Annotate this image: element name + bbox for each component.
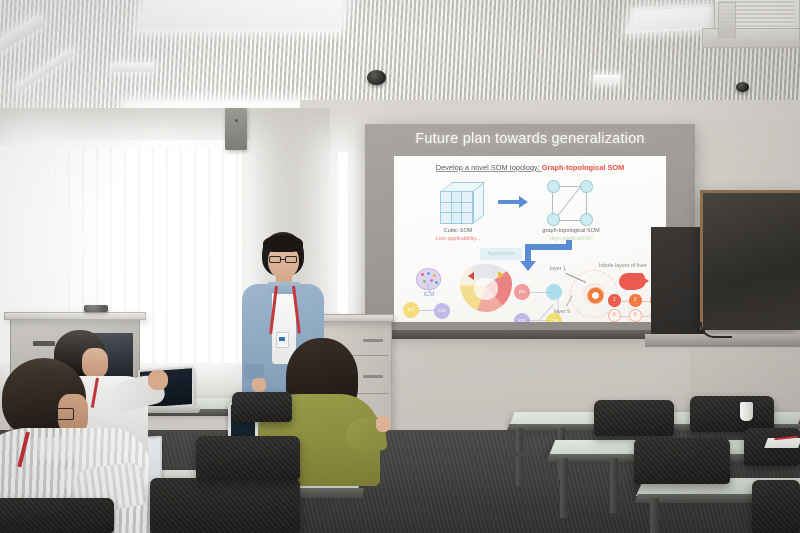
table-front-right-leg-1 [650,498,659,533]
ac-unit-duct [718,2,736,38]
transition-arrow-shaft [498,200,520,204]
slide-node-cyan [546,284,562,300]
wall-display-secondary [651,227,705,334]
ceiling-strip-light-4 [594,75,620,83]
layer-top-label: layer 1 [544,266,572,272]
table-mid-right-leg-1 [560,458,568,518]
av-rack-device-icon [84,305,108,312]
chair-foreground-left [0,498,114,533]
presenter-glasses-icon [269,256,281,263]
transition-arrow-head-icon [519,196,528,208]
chair-right-mid [634,438,730,484]
dome-sensor-secondary-icon [736,82,749,92]
grid-edge-r2-a [620,316,629,317]
av-rack-top [4,312,146,320]
attendee-front-glasses-icon [52,408,74,420]
grid-node-5: 5 [629,309,642,322]
brain-dot-6 [435,281,438,284]
heart-core [474,278,499,300]
presenter-hair-fringe [263,235,303,252]
slide-subtitle: Develop a novel SOM topology: Graph-topo… [394,163,666,172]
layer-bottom-label: layer 9 [548,309,576,315]
heart-arrow-red-icon [468,272,474,280]
conference-room-photo: Future plan towards generalization Devel… [0,0,800,533]
ceiling-panel-light-1 [136,0,349,32]
elbow-arrow-right-stem [566,240,572,248]
wall-display-main [700,190,800,330]
brain-dot-5 [430,279,433,282]
wall-speaker [225,108,247,150]
graph-edge-diagonal [557,187,581,217]
chair-foreground-center [150,478,300,533]
graph-som-diagram [547,180,593,222]
grid-edge-r1-a [620,301,629,302]
paper-sheet-right [764,438,800,448]
cubic-som-diagram [440,182,488,224]
grid-node-6: 6 [608,309,621,322]
ac-unit-skirt [702,28,800,48]
liver-arrow-icon [643,277,649,285]
slide-subtitle-lead: Develop a novel SOM topology: [436,163,542,172]
slide-edge-d2-cm [419,310,434,311]
grid-edge-r1-b [641,301,650,302]
chair-right-back-2 [690,396,774,432]
cubic-som-caption-sub: Low applicability... [424,236,492,242]
presenter-glasses-bridge [281,259,285,260]
chair-presenter-side [232,392,292,422]
slide-node-d3: D3 [514,313,530,322]
projection-screen: Future plan towards generalization Devel… [365,124,695,332]
attendee-center-hand [376,416,390,432]
brain-dot-4 [423,280,426,283]
elbow-arrow-head-icon [520,261,536,271]
table-mid-right-leg-2 [610,458,618,513]
graph-som-caption: graph-topological SOM [531,228,611,234]
grid-node-1: 1 [608,294,621,307]
slide-title: Future plan towards generalization [365,131,695,147]
grid-node-2: 2 [629,294,642,307]
grid-edge-r2-b [641,316,650,317]
heart-arrow-yellow-icon [498,271,504,279]
slide-node-d2: D2 [403,302,419,318]
slide-content-area: Develop a novel SOM topology: Graph-topo… [394,156,666,322]
presenter-glasses-right-icon [285,256,297,263]
graph-node-tl [547,180,560,193]
slide-node-cm-left: CM [434,303,450,319]
lobule-core [587,287,604,304]
chair-mid-left [196,436,300,480]
graph-node-tr [580,180,593,193]
table-back-right-leg-1 [516,428,523,486]
cubic-som-caption: Cubic-SOM [428,228,488,234]
paper-cup-right [740,402,753,421]
circuit-graph: DX D3 CM [514,284,570,322]
graph-node-br [580,213,593,226]
dome-sensor-icon [367,70,386,85]
brain-dot-3 [433,274,436,277]
liver-icon [619,273,645,290]
ceiling-strip-light-3 [111,63,155,72]
chair-right-back [594,400,674,436]
slide-node-dx: DX [514,284,530,300]
elbow-arrow-down-stem [525,244,531,262]
window-narrow-right [338,152,348,337]
brain-dot-1 [421,273,424,276]
graph-node-bl [547,213,560,226]
chair-right-front [752,480,800,533]
elbow-arrow-horizontal [525,244,572,250]
brain-dot-2 [427,272,430,275]
application-ghost-label: Application [480,251,522,257]
slide-subtitle-highlight: Graph-topological SOM [542,163,625,172]
cube-side-face [473,182,484,224]
cube-grid-h1 [440,202,473,213]
